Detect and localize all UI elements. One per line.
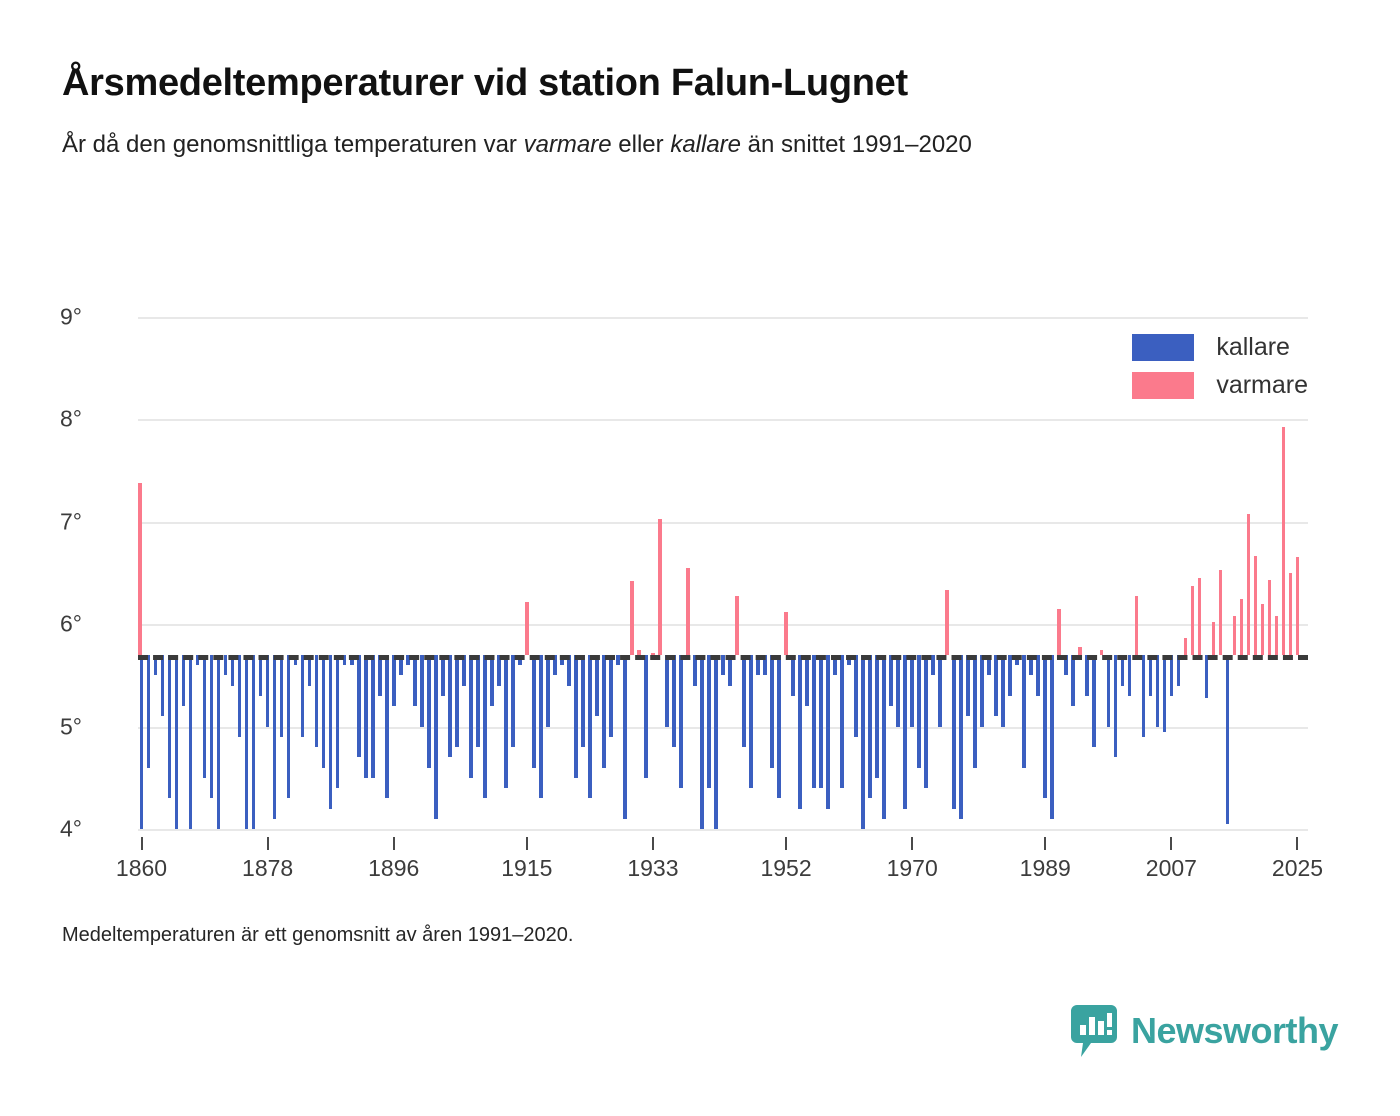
bar-1866[interactable] [182, 655, 186, 706]
x-axis-tick [1044, 837, 1046, 850]
reference-line-average [138, 655, 1308, 660]
chart-subtitle: År då den genomsnittliga temperaturen va… [62, 128, 1242, 162]
bar-1978[interactable] [966, 655, 970, 716]
bar-2004[interactable] [1149, 655, 1153, 696]
x-axis-tick-label: 2007 [1146, 855, 1197, 882]
bar-1972[interactable] [924, 655, 928, 788]
x-axis-tick [652, 837, 654, 850]
x-axis-tick [393, 837, 395, 850]
bar-2020[interactable] [1261, 604, 1265, 655]
bar-2006[interactable] [1163, 655, 1167, 732]
bar-1965[interactable] [875, 655, 879, 778]
bar-1951[interactable] [777, 655, 781, 798]
bar-1904[interactable] [448, 655, 452, 757]
page-title: Årsmedeltemperaturer vid station Falun-L… [62, 62, 1342, 106]
bar-1977[interactable] [959, 655, 963, 819]
y-axis-tick-label: 8° [0, 406, 82, 433]
legend-item-varmare[interactable]: varmare [1132, 366, 1308, 404]
bar-1893[interactable] [371, 655, 375, 778]
bar-2002[interactable] [1135, 596, 1139, 655]
bar-1988[interactable] [1036, 655, 1040, 696]
bar-1878[interactable] [266, 655, 270, 727]
bar-1910[interactable] [490, 655, 494, 706]
legend-label-varmare: varmare [1216, 371, 1308, 400]
bar-1945[interactable] [735, 596, 739, 655]
bar-1970[interactable] [910, 655, 914, 727]
x-axis-tick-label: 1878 [242, 855, 293, 882]
x-axis-tick [1296, 837, 1298, 850]
bar-2015[interactable] [1226, 655, 1230, 824]
x-axis-tick-label: 1933 [627, 855, 678, 882]
bar-1913[interactable] [511, 655, 515, 747]
subtitle-text-1: År då den genomsnittliga temperaturen va… [62, 131, 524, 158]
bar-1960[interactable] [840, 655, 844, 788]
bar-1896[interactable] [392, 655, 396, 706]
bar-1975[interactable] [945, 590, 949, 655]
bar-1907[interactable] [469, 655, 473, 778]
bar-2022[interactable] [1275, 616, 1279, 655]
bar-1930[interactable] [630, 581, 634, 655]
x-axis-tick-label: 1896 [368, 855, 419, 882]
bar-1926[interactable] [602, 655, 606, 768]
bar-1999[interactable] [1114, 655, 1118, 757]
bar-1932[interactable] [644, 655, 648, 778]
bar-2009[interactable] [1184, 638, 1188, 655]
bar-1996[interactable] [1092, 655, 1096, 747]
bar-2014[interactable] [1219, 570, 1223, 655]
bar-1983[interactable] [1001, 655, 1005, 727]
bar-1947[interactable] [749, 655, 753, 788]
bar-1969[interactable] [903, 655, 907, 809]
bar-1991[interactable] [1057, 609, 1061, 655]
bar-1887[interactable] [329, 655, 333, 809]
chart-header: Årsmedeltemperaturer vid station Falun-L… [62, 62, 1342, 162]
bar-1905[interactable] [455, 655, 459, 747]
bar-2024[interactable] [1289, 573, 1293, 655]
bar-2023[interactable] [1282, 427, 1286, 655]
bar-1912[interactable] [504, 655, 508, 788]
bar-1899[interactable] [413, 655, 417, 706]
bar-1924[interactable] [588, 655, 592, 798]
bar-2018[interactable] [1247, 514, 1251, 655]
bar-1993[interactable] [1071, 655, 1075, 706]
bar-1869[interactable] [203, 655, 207, 778]
bar-1980[interactable] [980, 655, 984, 727]
x-axis-tick [911, 837, 913, 850]
legend-label-kallare: kallare [1216, 333, 1290, 362]
subtitle-emphasis-varmare: varmare [524, 131, 612, 158]
bar-1940[interactable] [700, 655, 704, 829]
bar-1998[interactable] [1107, 655, 1111, 727]
bar-1894[interactable] [378, 655, 382, 696]
bar-1957[interactable] [819, 655, 823, 788]
x-axis: 1860187818961915193319521970198920072025 [138, 829, 1308, 889]
legend-swatch-kallare-icon [1132, 334, 1194, 361]
bar-1941[interactable] [707, 655, 711, 788]
bar-1901[interactable] [427, 655, 431, 768]
bar-1879[interactable] [273, 655, 277, 819]
x-axis-tick [785, 837, 787, 850]
bar-1967[interactable] [889, 655, 893, 706]
bar-1900[interactable] [420, 655, 424, 727]
bar-2003[interactable] [1142, 655, 1146, 737]
bar-1976[interactable] [952, 655, 956, 809]
bar-1962[interactable] [854, 655, 858, 737]
bar-undefined[interactable] [138, 483, 142, 655]
bar-1950[interactable] [770, 655, 774, 768]
bar-1953[interactable] [791, 655, 795, 696]
subtitle-text-2: eller [612, 131, 671, 158]
bar-1937[interactable] [679, 655, 683, 788]
bar-1923[interactable] [581, 655, 585, 747]
bar-1885[interactable] [315, 655, 319, 747]
bar-1867[interactable] [189, 655, 193, 829]
bar-2019[interactable] [1254, 556, 1258, 655]
bar-1922[interactable] [574, 655, 578, 778]
bar-2017[interactable] [1240, 599, 1244, 655]
bar-1964[interactable] [868, 655, 872, 798]
bar-1877[interactable] [259, 655, 263, 696]
bar-1968[interactable] [896, 655, 900, 727]
bar-1917[interactable] [539, 655, 543, 798]
y-axis-tick-label: 9° [0, 304, 82, 331]
x-axis-tick [526, 837, 528, 850]
bar-2012[interactable] [1205, 655, 1209, 698]
bar-1929[interactable] [623, 655, 627, 819]
bar-1974[interactable] [938, 655, 942, 727]
y-axis-tick-label: 6° [0, 611, 82, 638]
bar-1886[interactable] [322, 655, 326, 768]
bar-1986[interactable] [1022, 655, 1026, 768]
bar-2025[interactable] [1296, 557, 1300, 655]
bar-2021[interactable] [1268, 580, 1272, 655]
bar-1942[interactable] [714, 655, 718, 829]
bar-1989[interactable] [1043, 655, 1047, 798]
x-axis-tick-label: 2025 [1272, 855, 1323, 882]
bar-1892[interactable] [364, 655, 368, 778]
bar-1935[interactable] [665, 655, 669, 727]
x-axis-tick [1170, 837, 1172, 850]
bar-1946[interactable] [742, 655, 746, 747]
bar-1954[interactable] [798, 655, 802, 809]
x-axis-tick-label: 1970 [887, 855, 938, 882]
bar-2013[interactable] [1212, 622, 1216, 655]
bar-1875[interactable] [245, 655, 249, 829]
chart-footnote: Medeltemperaturen är ett genomsnitt av å… [62, 924, 573, 947]
x-axis-tick-label: 1860 [116, 855, 167, 882]
bar-2010[interactable] [1191, 586, 1195, 655]
x-axis-line [138, 829, 1308, 831]
bar-1958[interactable] [826, 655, 830, 809]
bar-2001[interactable] [1128, 655, 1132, 696]
bar-1891[interactable] [357, 655, 361, 757]
bar-1916[interactable] [532, 655, 536, 768]
bar-1861[interactable] [147, 655, 151, 768]
bar-1934[interactable] [658, 519, 662, 655]
bar-1883[interactable] [301, 655, 305, 737]
x-axis-tick [141, 837, 143, 850]
brand-name: Newsworthy [1131, 1010, 1338, 1052]
bar-1982[interactable] [994, 655, 998, 716]
bar-2016[interactable] [1233, 616, 1237, 655]
x-axis-tick-label: 1989 [1020, 855, 1071, 882]
bar-1990[interactable] [1050, 655, 1054, 819]
bar-1902[interactable] [434, 655, 438, 819]
x-axis-tick-label: 1915 [501, 855, 552, 882]
bar-1881[interactable] [287, 655, 291, 798]
bar-2007[interactable] [1170, 655, 1174, 696]
x-axis-tick-label: 1952 [760, 855, 811, 882]
bar-1938[interactable] [686, 568, 690, 655]
bar-1880[interactable] [280, 655, 284, 737]
bar-1952[interactable] [784, 612, 788, 655]
bar-1927[interactable] [609, 655, 613, 737]
bar-1966[interactable] [882, 655, 886, 819]
brand-logo[interactable]: Newsworthy [1071, 1005, 1338, 1057]
bar-1864[interactable] [168, 655, 172, 798]
bar-1908[interactable] [476, 655, 480, 747]
bar-1994[interactable] [1078, 647, 1082, 655]
y-axis-tick-label: 4° [0, 816, 82, 843]
subtitle-emphasis-kallare: kallare [670, 131, 741, 158]
bar-1870[interactable] [210, 655, 214, 798]
chart-legend: kallare varmare [1132, 328, 1308, 404]
bar-1874[interactable] [238, 655, 242, 737]
bar-1963[interactable] [861, 655, 865, 829]
bar-1895[interactable] [385, 655, 389, 798]
legend-item-kallare[interactable]: kallare [1132, 328, 1308, 366]
bar-1956[interactable] [812, 655, 816, 788]
y-axis-tick-label: 5° [0, 713, 82, 740]
bar-1995[interactable] [1085, 655, 1089, 696]
bar-1971[interactable] [917, 655, 921, 768]
bar-1984[interactable] [1008, 655, 1012, 696]
bar-1871[interactable] [217, 655, 221, 829]
x-axis-tick [267, 837, 269, 850]
bar-1918[interactable] [546, 655, 550, 727]
bar-1915[interactable] [525, 602, 529, 655]
bar-1909[interactable] [483, 655, 487, 798]
bar-1955[interactable] [805, 655, 809, 706]
bar-1925[interactable] [595, 655, 599, 716]
bar-1860[interactable] [140, 655, 144, 829]
bar-1936[interactable] [672, 655, 676, 747]
bar-2005[interactable] [1156, 655, 1160, 727]
bar-1979[interactable] [973, 655, 977, 768]
bar-2011[interactable] [1198, 578, 1202, 655]
newsworthy-bars-bubble-icon [1071, 1005, 1117, 1057]
subtitle-text-3: än snittet 1991–2020 [741, 131, 972, 158]
bar-1888[interactable] [336, 655, 340, 788]
y-axis-tick-label: 7° [0, 508, 82, 535]
legend-swatch-varmare-icon [1132, 372, 1194, 399]
bar-1865[interactable] [175, 655, 179, 829]
chart-plot-wrapper: 4°5°6°7°8°9° 186018781896191519331952197… [0, 290, 1400, 890]
bar-1876[interactable] [252, 655, 256, 829]
bar-1863[interactable] [161, 655, 165, 716]
bar-1903[interactable] [441, 655, 445, 696]
